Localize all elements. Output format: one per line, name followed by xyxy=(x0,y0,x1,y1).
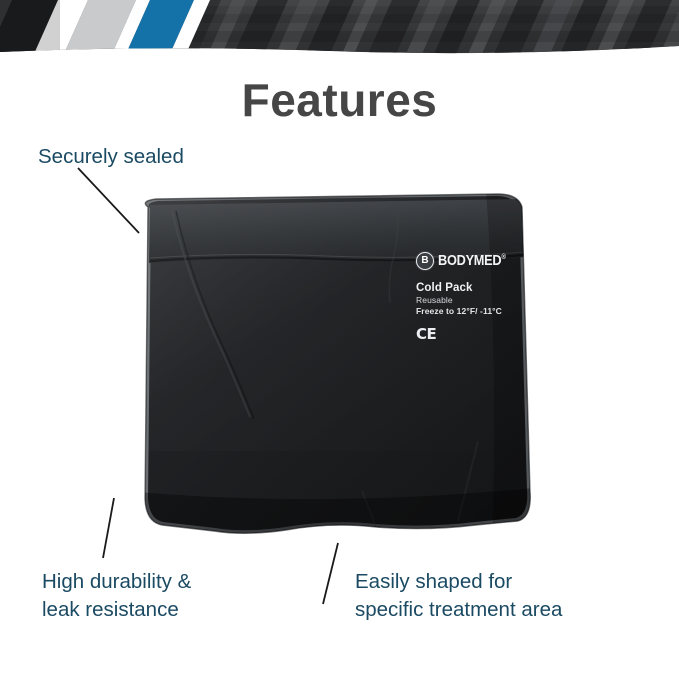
pack-right-shadow xyxy=(486,191,544,546)
pack-body-group xyxy=(126,191,544,546)
product-label: B BODYMED® Cold Pack Reusable Freeze to … xyxy=(416,252,526,343)
brand-logo-row: B BODYMED® xyxy=(416,252,526,270)
ce-mark-icon: CE xyxy=(416,325,526,343)
header-banner xyxy=(0,0,679,58)
callout-easily-shaped: Easily shaped for specific treatment are… xyxy=(355,568,562,624)
brand-name: BODYMED® xyxy=(438,254,506,269)
label-freeze-instruction: Freeze to 12°F/ -11°C xyxy=(416,306,526,316)
label-reusable: Reusable xyxy=(416,295,526,305)
cold-pack-graphic xyxy=(126,191,544,546)
page-title: Features xyxy=(0,76,679,124)
label-product-name: Cold Pack xyxy=(416,282,526,294)
header-banner-graphic xyxy=(0,0,679,58)
product-image-cold-pack xyxy=(126,191,544,546)
leader-line-high-durability xyxy=(103,498,114,558)
leader-line-easily-shaped xyxy=(323,543,338,604)
registered-trademark-icon: ® xyxy=(501,254,505,261)
callout-securely-sealed: Securely sealed xyxy=(38,143,184,171)
banner-left-shadow xyxy=(0,0,60,58)
brand-name-text: BODYMED xyxy=(438,253,501,269)
callout-high-durability: High durability & leak resistance xyxy=(42,568,191,624)
bodymed-b-mark-icon: B xyxy=(416,252,434,270)
